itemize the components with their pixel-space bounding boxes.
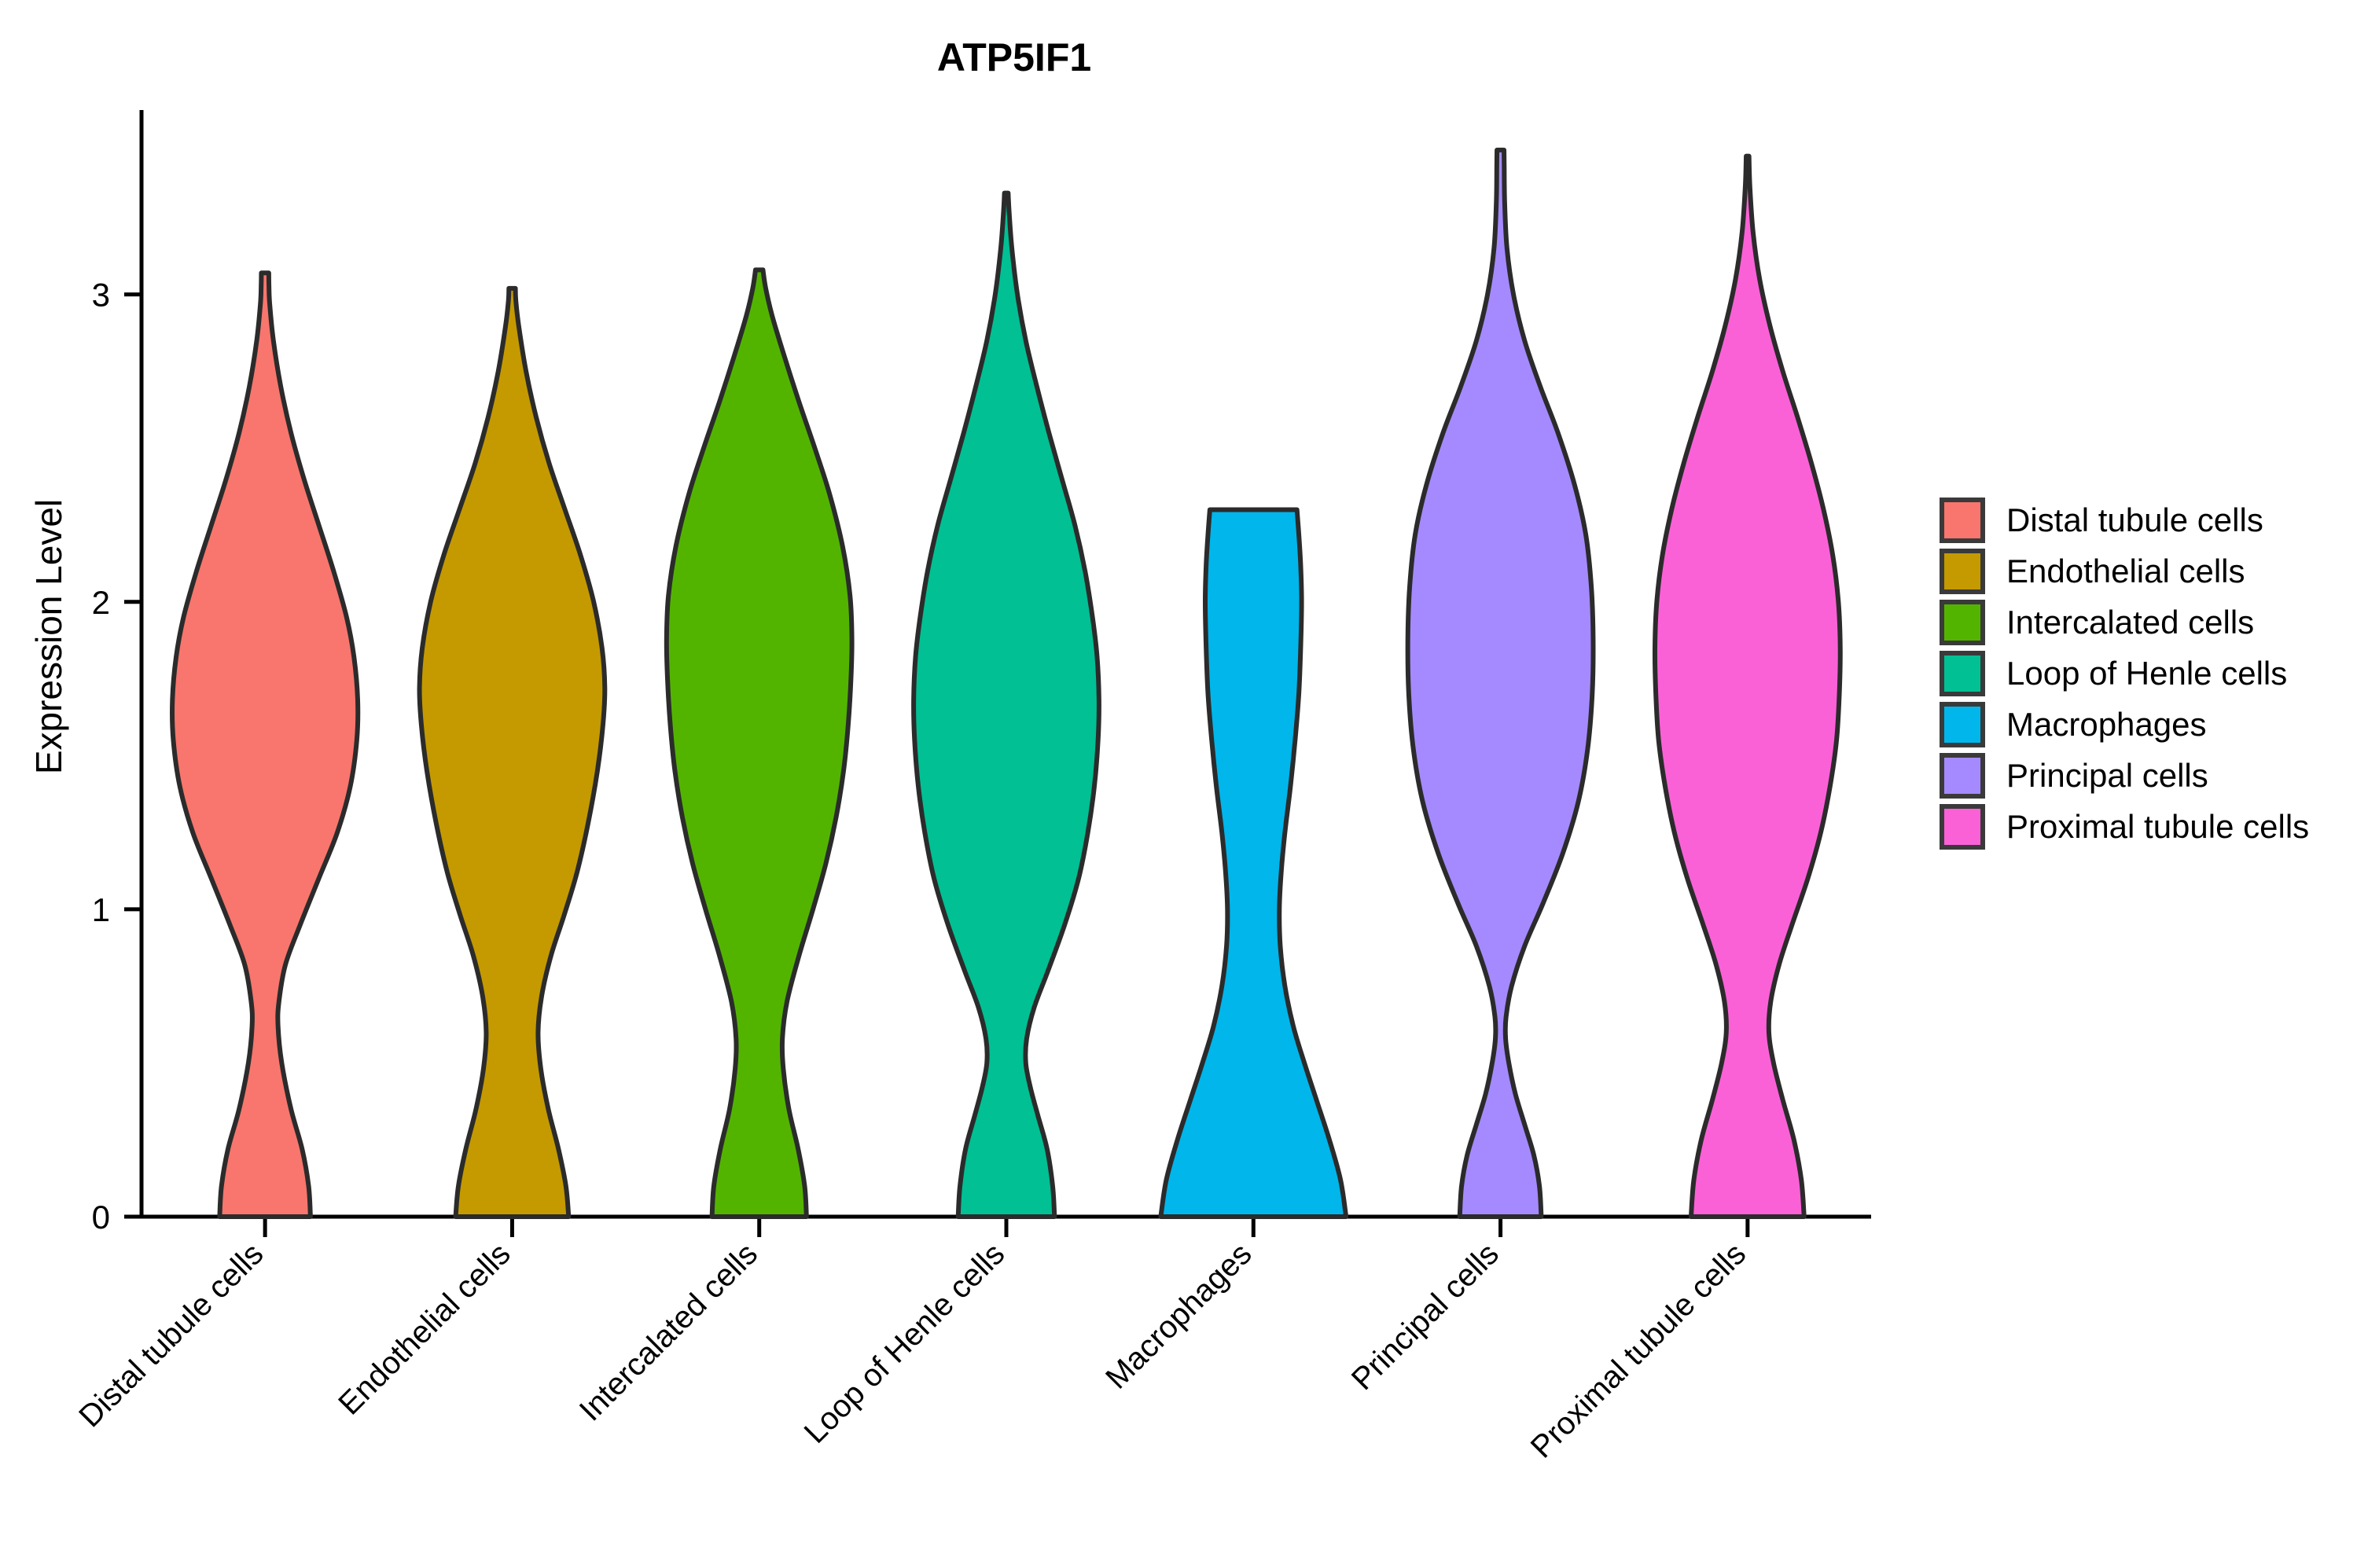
legend-label: Intercalated cells [2006,604,2254,641]
violin-intercalated-cells [667,270,852,1217]
x-tick-label: Proximal tubule cells [1524,1236,1752,1464]
y-tick-label: 2 [92,584,110,621]
violin-distal-tubule-cells [172,273,358,1217]
violin-principal-cells [1408,150,1594,1217]
legend-label: Proximal tubule cells [2006,808,2309,845]
legend-label: Endothelial cells [2006,553,2245,589]
violin-macrophages [1160,509,1346,1217]
y-tick-label: 0 [92,1199,110,1236]
violin-group [172,150,1840,1217]
legend-swatch[interactable] [1942,500,1983,541]
violin-endothelial-cells [420,288,605,1217]
x-tick-label: Intercalated cells [573,1236,764,1427]
chart-canvas: ATP5IF1 Expression Level 0123 Distal tub… [0,0,2368,1568]
legend-label: Macrophages [2006,706,2206,743]
legend-swatch[interactable] [1942,704,1983,745]
violin-proximal-tubule-cells [1655,156,1840,1217]
legend-swatch[interactable] [1942,602,1983,643]
violin-plot-figure: ATP5IF1 Expression Level 0123 Distal tub… [0,0,2368,1568]
x-tick-label: Distal tubule cells [72,1236,270,1434]
chart-title: ATP5IF1 [937,35,1091,79]
x-tick-label: Macrophages [1099,1236,1258,1395]
legend-label: Principal cells [2006,757,2208,794]
x-axis-ticks [265,1217,1748,1237]
legend-label: Loop of Henle cells [2006,655,2287,692]
y-tick-label: 3 [92,277,110,314]
y-axis-label: Expression Level [28,499,69,774]
legend-swatch[interactable] [1942,755,1983,796]
legend-swatch[interactable] [1942,806,1983,847]
legend-label: Distal tubule cells [2006,501,2263,538]
y-tick-label: 1 [92,891,110,928]
x-tick-label: Loop of Henle cells [798,1236,1012,1450]
legend-swatch[interactable] [1942,551,1983,592]
x-tick-label: Principal cells [1345,1236,1506,1397]
violin-loop-of-henle-cells [914,193,1099,1217]
x-axis-tick-labels: Distal tubule cellsEndothelial cellsInte… [72,1236,1752,1464]
y-axis-ticks: 0123 [92,277,142,1236]
legend: Distal tubule cellsEndothelial cellsInte… [1942,500,2309,847]
x-tick-label: Endothelial cells [332,1236,517,1422]
legend-swatch[interactable] [1942,653,1983,694]
